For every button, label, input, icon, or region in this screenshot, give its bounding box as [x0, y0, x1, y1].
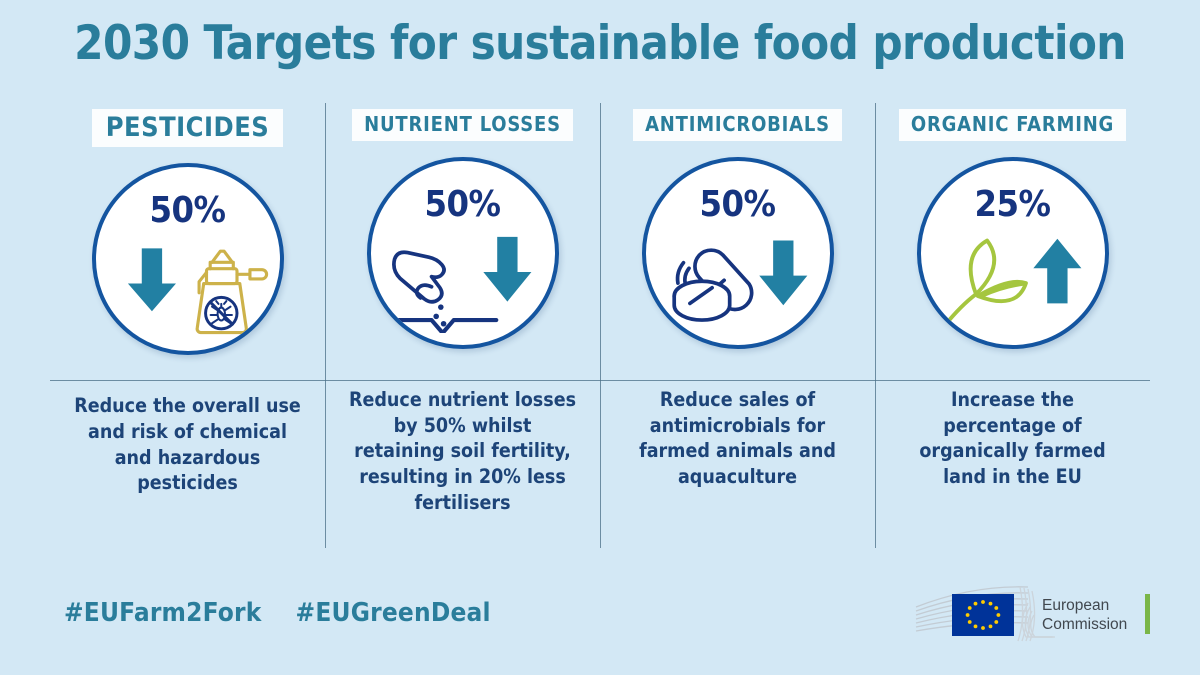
target-circle-organic-farming: 25% — [917, 157, 1109, 349]
targets-columns: PESTICIDES 50% — [50, 100, 1150, 550]
hashtag-eufarm2fork[interactable]: #EUFarm2Fork — [64, 598, 262, 628]
target-column-organic-farming: ORGANIC FARMING 25% — [875, 100, 1150, 550]
arrow-down-icon — [759, 241, 807, 306]
hand-sowing-fertiliser-icon — [381, 235, 545, 333]
pills-capsule-icon — [656, 235, 820, 333]
arrow-up-icon — [1033, 239, 1081, 304]
target-percent-pesticides: 50% — [96, 190, 280, 231]
european-commission-logo: European Commission — [910, 583, 1152, 647]
no-insect-symbol — [205, 297, 236, 328]
category-badge-antimicrobials: ANTIMICROBIALS — [633, 109, 842, 141]
section-divider-horizontal — [50, 380, 1150, 381]
icon-area — [106, 241, 270, 339]
category-badge-pesticides: PESTICIDES — [92, 109, 284, 147]
circle-frame: 50% — [367, 157, 559, 349]
icon-area — [931, 235, 1095, 333]
page-title: 2030 Targets for sustainable food produc… — [0, 18, 1200, 70]
pesticide-sprayer-icon — [106, 241, 270, 339]
hashtag-row: #EUFarm2Fork #EUGreenDeal — [64, 598, 491, 628]
target-circle-pesticides: 50% — [92, 163, 284, 355]
arrow-down-icon — [127, 248, 175, 311]
target-description-pesticides: Reduce the overall use and risk of chemi… — [72, 393, 303, 496]
ec-logo-line1: European — [1042, 596, 1127, 615]
target-column-antimicrobials: ANTIMICROBIALS 50% — [600, 100, 875, 550]
category-badge-nutrient-losses: NUTRIENT LOSSES — [352, 109, 573, 141]
circle-frame: 50% — [92, 163, 284, 355]
circle-frame: 25% — [917, 157, 1109, 349]
target-percent-organic-farming: 25% — [921, 184, 1105, 225]
target-column-nutrient-losses: NUTRIENT LOSSES 50% — [325, 100, 600, 550]
target-circle-antimicrobials: 50% — [642, 157, 834, 349]
ec-logo-text: European Commission — [1042, 596, 1127, 635]
hashtag-eugreendeal[interactable]: #EUGreenDeal — [296, 598, 491, 628]
target-percent-antimicrobials: 50% — [646, 184, 830, 225]
category-badge-organic-farming: ORGANIC FARMING — [899, 109, 1126, 141]
circle-frame: 50% — [642, 157, 834, 349]
ec-green-accent-bar — [1145, 594, 1150, 634]
arrow-down-icon — [483, 237, 531, 302]
eu-flag-icon — [952, 594, 1014, 636]
target-description-nutrient-losses: Reduce nutrient losses by 50% whilst ret… — [347, 387, 578, 516]
green-leaves-icon — [931, 235, 1095, 333]
target-description-antimicrobials: Reduce sales of antimicrobials for farme… — [622, 387, 853, 490]
ec-logo-line2: Commission — [1042, 615, 1127, 634]
icon-area — [656, 235, 820, 333]
icon-area — [381, 235, 545, 333]
target-circle-nutrient-losses: 50% — [367, 157, 559, 349]
infographic-canvas: 2030 Targets for sustainable food produc… — [0, 0, 1200, 675]
target-column-pesticides: PESTICIDES 50% — [50, 100, 325, 550]
target-percent-nutrient-losses: 50% — [371, 184, 555, 225]
target-description-organic-farming: Increase the percentage of organically f… — [897, 387, 1128, 490]
